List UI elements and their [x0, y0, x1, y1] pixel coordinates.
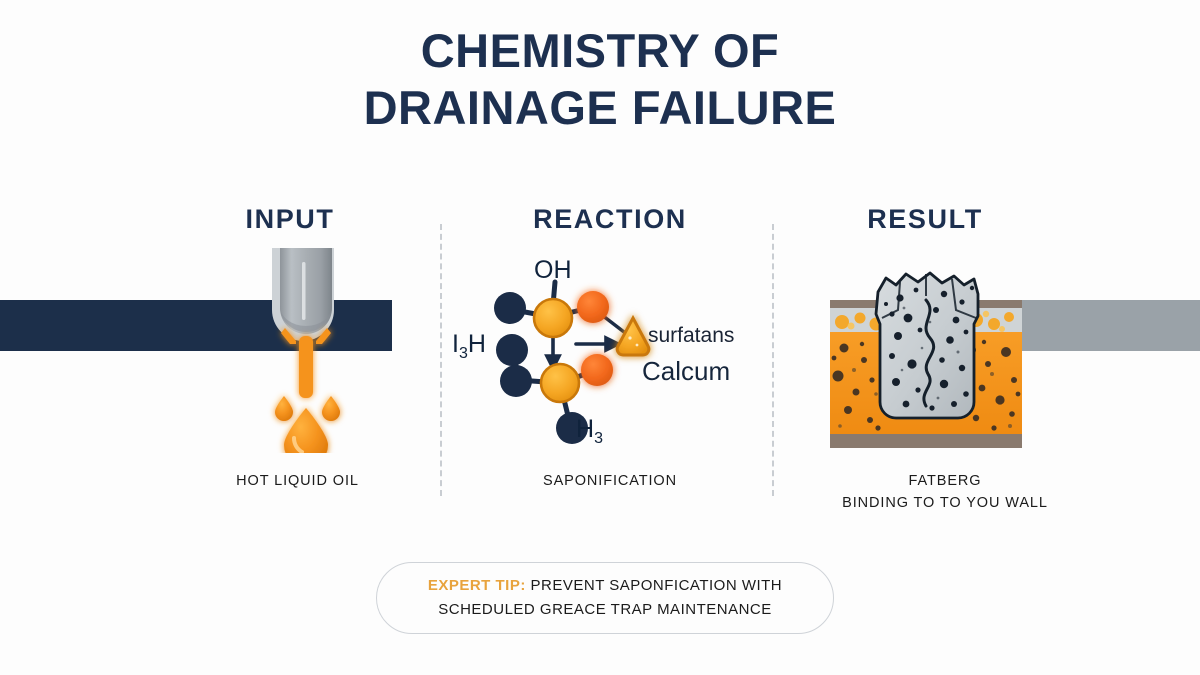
fatberg-cross-section-icon: [826, 252, 1026, 452]
column-caption-result: FATBERG BINDING TO TO YOU WALL: [800, 470, 1090, 515]
column-header-reaction: REACTION: [490, 204, 730, 235]
molecule-label-i3h-prefix: I: [452, 330, 459, 358]
molecule-label-i3h-main: H: [468, 330, 486, 358]
column-header-result: RESULT: [805, 204, 1045, 235]
column-caption-input-line-1: HOT LIQUID OIL: [170, 470, 425, 492]
expert-tip-line-1: EXPERT TIP: PREVENT SAPONFICATION WITH: [428, 574, 782, 598]
molecule-label-i3h: I3H: [452, 330, 486, 363]
molecule-label-i3h-sub: 3: [459, 345, 468, 362]
column-caption-reaction: SAPONIFICATION: [485, 470, 735, 492]
column-header-input: INPUT: [170, 204, 410, 235]
column-caption-result-line-2: BINDING TO TO YOU WALL: [800, 492, 1090, 514]
infographic-canvas: CHEMISTRY OF DRAINAGE FAILURE INPUT: [0, 0, 1200, 675]
page-title-line-2: DRAINAGE FAILURE: [0, 79, 1200, 136]
column-divider-2: [772, 224, 774, 496]
expert-tip-kicker: EXPERT TIP:: [428, 577, 526, 594]
molecule-label-h3-main: H: [576, 415, 594, 443]
molecule-label-h3-sub: 3: [594, 430, 603, 447]
oil-pipe-dripping-icon: [228, 248, 378, 453]
column-caption-result-line-1: FATBERG: [800, 470, 1090, 492]
page-title-line-1: CHEMISTRY OF: [421, 24, 780, 77]
molecule-label-oh: OH: [534, 256, 572, 285]
expert-tip-text: EXPERT TIP: PREVENT SAPONFICATION WITH S…: [428, 574, 782, 623]
expert-tip-line-2: SCHEDULED GREACE TRAP MAINTENANCE: [428, 598, 782, 622]
expert-tip-pill: EXPERT TIP: PREVENT SAPONFICATION WITH S…: [376, 562, 834, 634]
column-divider-1: [440, 224, 442, 496]
page-title: CHEMISTRY OF DRAINAGE FAILURE: [0, 22, 1200, 137]
expert-tip-line-1-rest: PREVENT SAPONFICATION WITH: [526, 577, 782, 594]
column-caption-reaction-line-1: SAPONIFICATION: [485, 470, 735, 492]
molecule-label-calcium: Calcum: [642, 356, 730, 387]
molecule-diagram-icon: OH I3H H3 surfatans Calcum: [452, 252, 752, 457]
column-caption-input: HOT LIQUID OIL: [170, 470, 425, 492]
molecule-label-h3: H3: [576, 415, 603, 448]
molecule-label-surfactants: surfatans: [648, 324, 734, 348]
